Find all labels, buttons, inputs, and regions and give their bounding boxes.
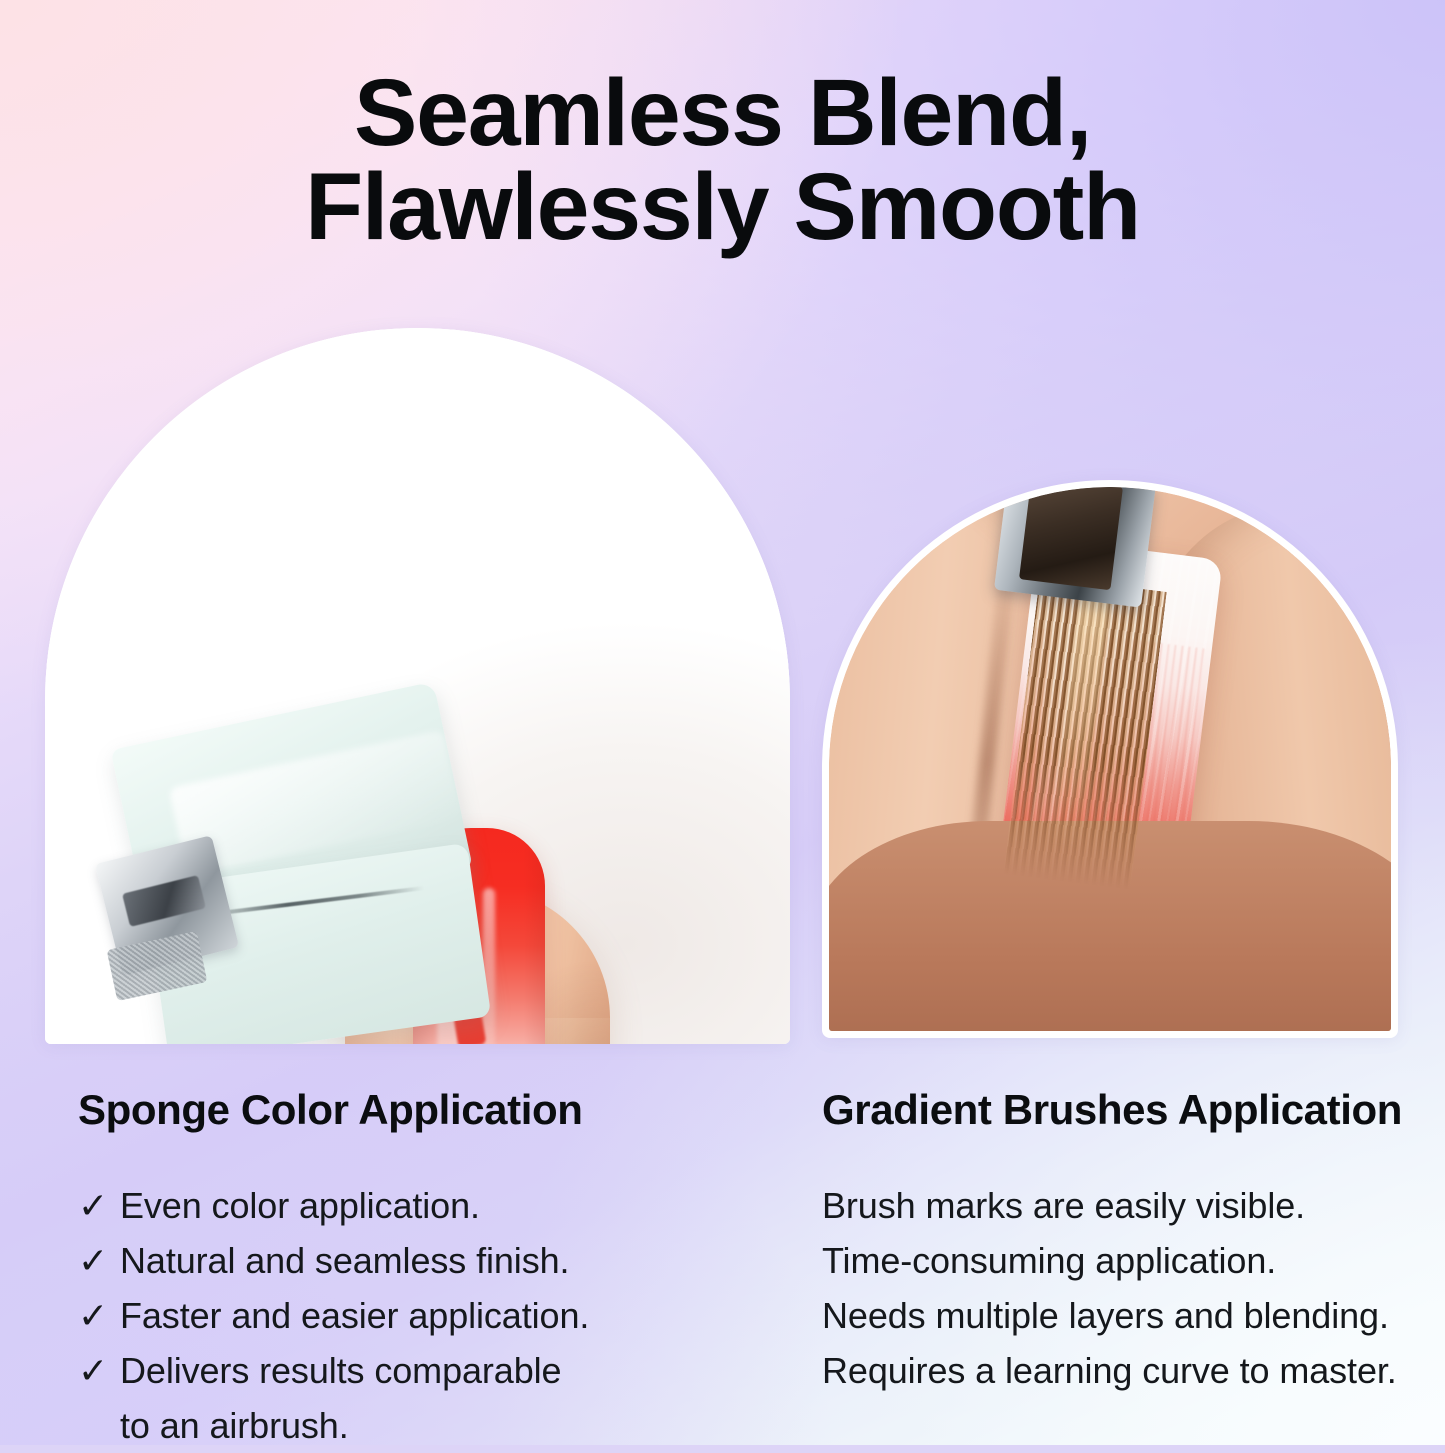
nail-gloss-highlight-secondary — [483, 888, 495, 1044]
brush-column-title: Gradient Brushes Application — [822, 1086, 1402, 1134]
headline-line-1: Seamless Blend, — [0, 66, 1445, 160]
list-item: Brush marks are easily visible. — [822, 1178, 1442, 1233]
list-item-label: Natural and seamless finish. — [120, 1233, 778, 1288]
sponge-image-card — [45, 328, 790, 1044]
list-item-label: Even color application. — [120, 1178, 778, 1233]
list-item-label: Delivers results comparable — [120, 1343, 778, 1398]
sponge-benefit-list: ✓ Even color application. ✓ Natural and … — [78, 1178, 778, 1453]
list-item: Time-consuming application. — [822, 1233, 1442, 1288]
list-item: Needs multiple layers and blending. — [822, 1288, 1442, 1343]
list-item: ✓ Delivers results comparable — [78, 1343, 778, 1398]
check-icon: ✓ — [78, 1233, 120, 1288]
list-item: ✓ Natural and seamless finish. — [78, 1233, 778, 1288]
sponge-column-title: Sponge Color Application — [78, 1086, 583, 1134]
list-item: ✓ Even color application. — [78, 1178, 778, 1233]
page-title: Seamless Blend, Flawlessly Smooth — [0, 66, 1445, 254]
brush-ferrule-inner — [1019, 487, 1123, 590]
list-item: Requires a learning curve to master. — [822, 1343, 1442, 1398]
brush-drawback-list: Brush marks are easily visible. Time-con… — [822, 1178, 1442, 1398]
sponge-photo — [45, 328, 790, 1044]
list-item: ✓ Faster and easier application. — [78, 1288, 778, 1343]
headline-line-2: Flawlessly Smooth — [0, 160, 1445, 254]
list-item-label: Faster and easier application. — [120, 1288, 778, 1343]
brush-photo — [829, 487, 1391, 1031]
check-icon: ✓ — [78, 1343, 120, 1398]
check-icon: ✓ — [78, 1178, 120, 1233]
brush-image-card — [822, 480, 1398, 1038]
check-icon: ✓ — [78, 1288, 120, 1343]
